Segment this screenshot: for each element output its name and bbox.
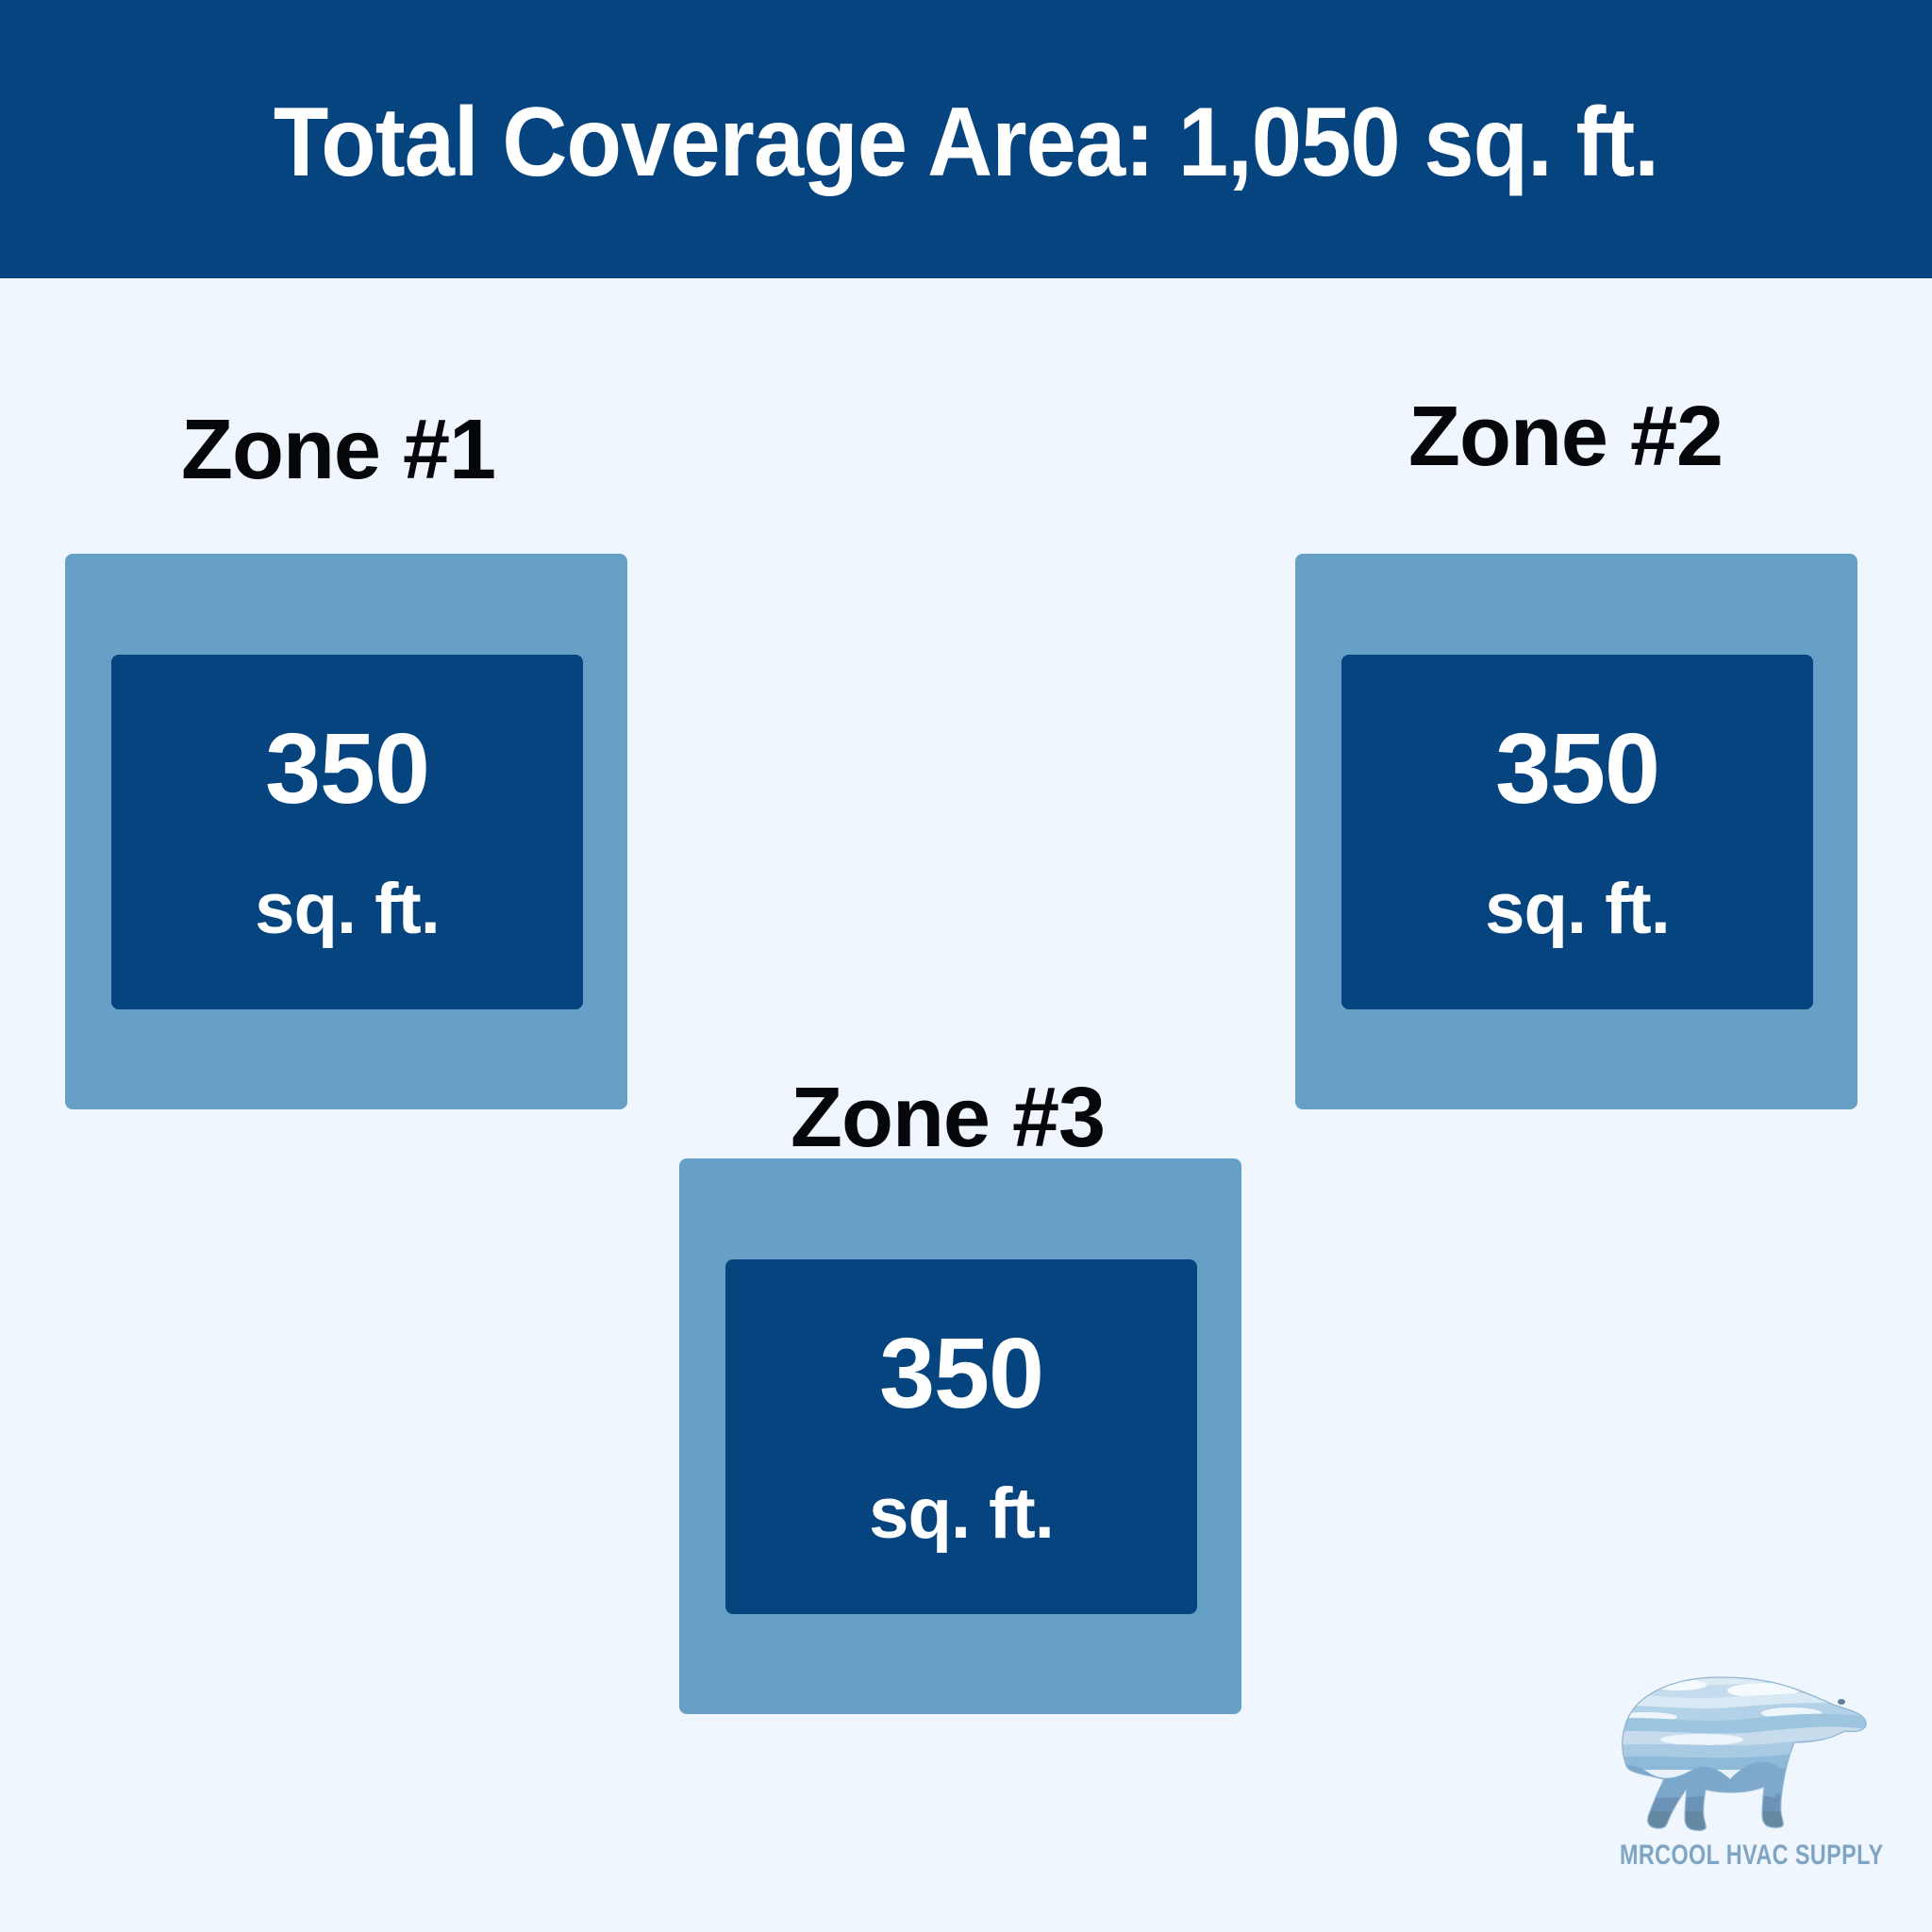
zone-value-box-2: 350 sq. ft. (1341, 655, 1813, 1009)
zone-card-2: 350 sq. ft. (1295, 554, 1857, 1109)
zone-card-3: 350 sq. ft. (679, 1158, 1241, 1714)
zone-value-2: 350 (1495, 719, 1659, 819)
zone-value-1: 350 (265, 719, 429, 819)
zone-label-1: Zone #1 (181, 408, 495, 492)
zone-unit-2: sq. ft. (1485, 874, 1670, 945)
zone-unit-1: sq. ft. (255, 874, 440, 945)
page-title: Total Coverage Area: 1,050 sq. ft. (274, 93, 1658, 192)
zone-unit-3: sq. ft. (869, 1478, 1054, 1550)
zone-value-box-1: 350 sq. ft. (111, 655, 583, 1009)
brand-logo: MRCOOL HVAC SUPPLY (1589, 1653, 1872, 1890)
zone-card-1: 350 sq. ft. (65, 554, 627, 1109)
header-banner: Total Coverage Area: 1,050 sq. ft. (0, 0, 1932, 278)
zone-value-3: 350 (879, 1324, 1043, 1424)
zone-value-box-3: 350 sq. ft. (725, 1259, 1197, 1614)
zone-label-2: Zone #2 (1408, 394, 1723, 479)
zone-label-3: Zone #3 (791, 1075, 1105, 1160)
polar-bear-icon (1589, 1653, 1872, 1841)
brand-logo-text: MRCOOL HVAC SUPPLY (1620, 1841, 1840, 1870)
